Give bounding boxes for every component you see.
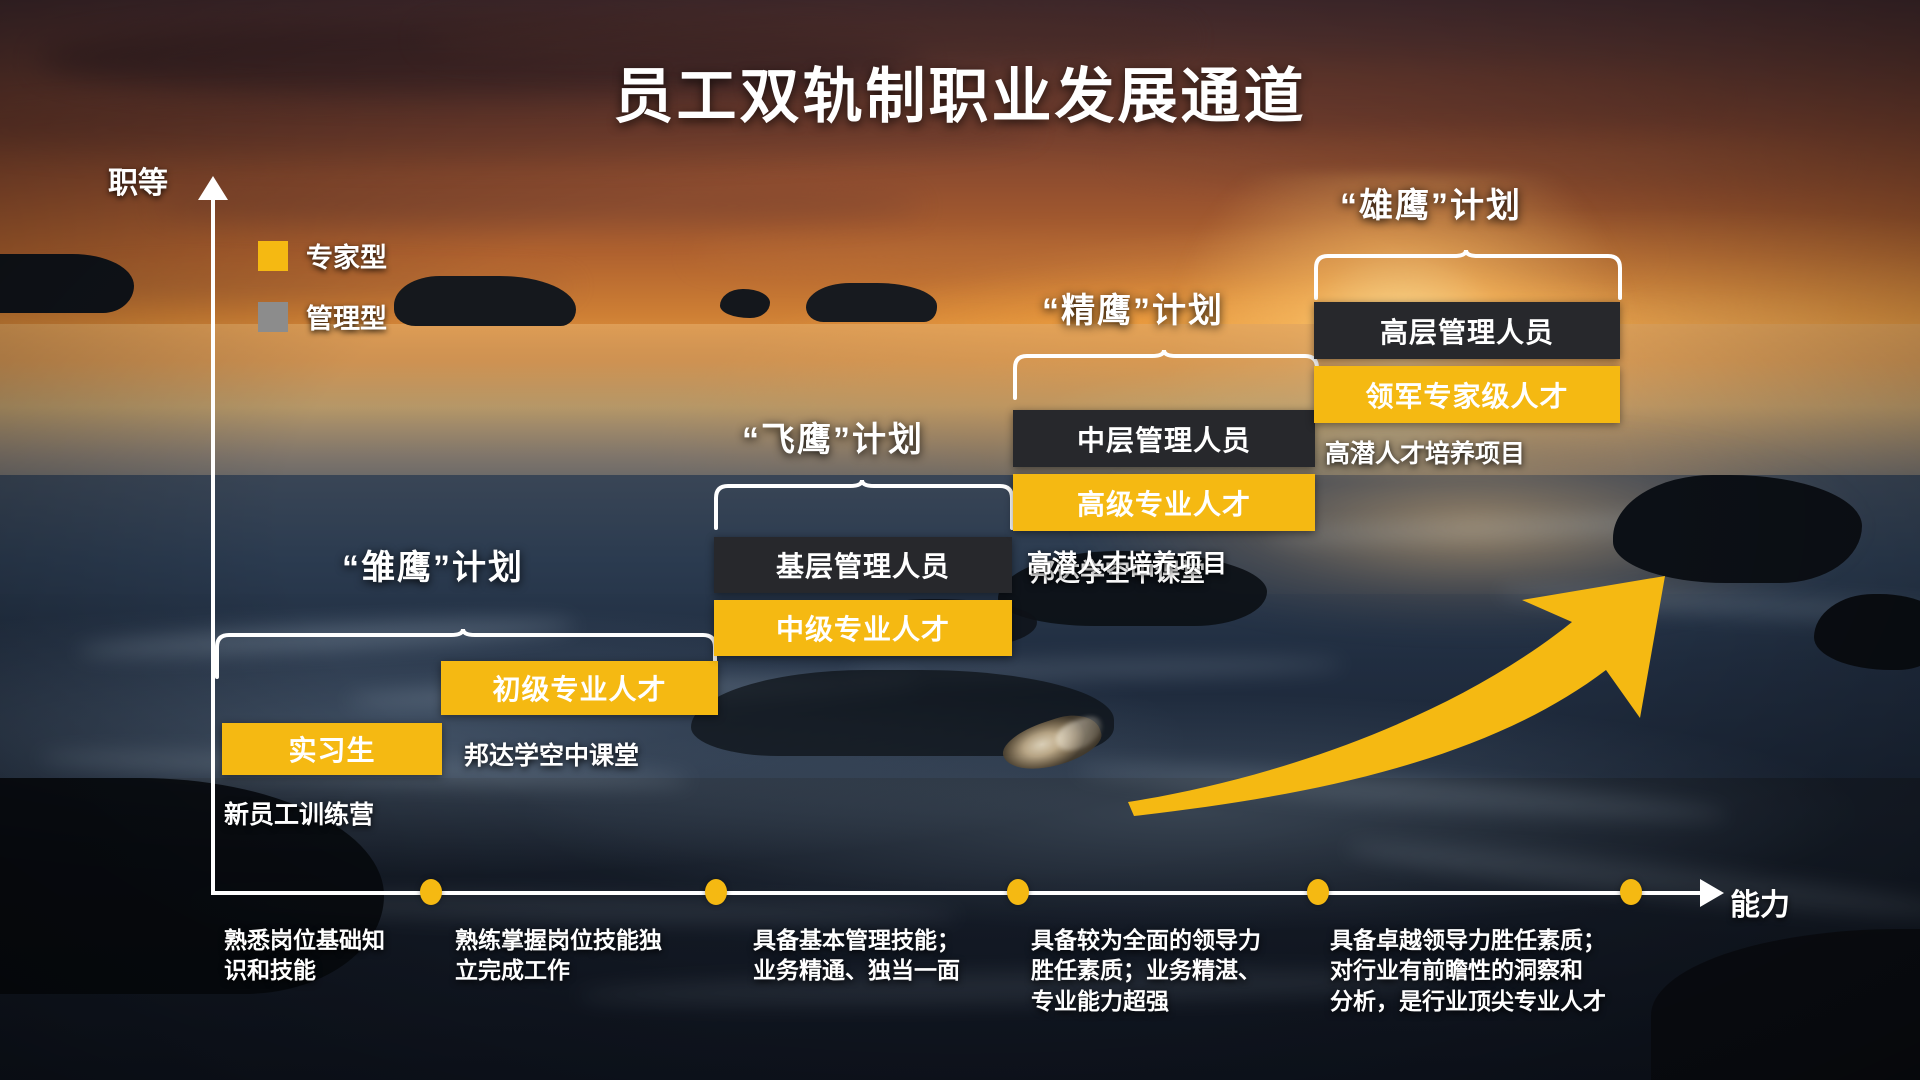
milestone-caption-2: 熟练掌握岗位技能独 立完成工作	[455, 925, 662, 986]
box-leading-expert: 领军专家级人才	[1314, 366, 1620, 423]
milestone-caption-1: 熟悉岗位基础知 识和技能	[224, 925, 385, 986]
box-mid-expert: 中级专业人才	[714, 600, 1012, 656]
box-junior-manager: 基层管理人员	[714, 537, 1012, 593]
plan-label-elite-eagle: “精鹰”计划	[1042, 283, 1224, 332]
brace-flying-eagle	[714, 478, 1014, 530]
brace-grand-eagle	[1314, 248, 1622, 300]
brace-elite-eagle	[1013, 348, 1319, 400]
program-high-potential-2: 高潜人才培养项目	[1325, 434, 1525, 470]
legend: 专家型 管理型	[258, 236, 387, 358]
box-intern: 实习生	[222, 723, 442, 775]
box-mid-manager: 中层管理人员	[1013, 410, 1315, 467]
box-senior-expert: 高级专业人才	[1013, 474, 1315, 531]
milestone-caption-5: 具备卓越领导力胜任素质； 对行业有前瞻性的洞察和 分析，是行业顶尖专业人才	[1330, 925, 1606, 1016]
program-newcomer-camp: 新员工训练营	[224, 795, 374, 831]
milestone-caption-3: 具备基本管理技能； 业务精通、独当一面	[753, 925, 960, 986]
legend-label-expert: 专家型	[306, 236, 387, 275]
slide-canvas: 员工双轨制职业发展通道 职等 能力 专家型 管理型 “雏鹰”计划 实习生	[0, 0, 1920, 1080]
y-axis-label: 职等	[108, 158, 168, 202]
y-axis-line	[211, 190, 215, 893]
page-title: 员工双轨制职业发展通道	[0, 48, 1920, 135]
x-axis-label: 能力	[1730, 880, 1790, 924]
x-axis-arrow-icon	[1700, 879, 1724, 907]
plan-label-eaglet: “雏鹰”计划	[342, 540, 524, 589]
expert-swatch-icon	[258, 241, 288, 271]
legend-item-expert: 专家型	[258, 236, 387, 275]
milestone-caption-4: 具备较为全面的领导力 胜任素质；业务精湛、 专业能力超强	[1031, 925, 1261, 1016]
legend-item-management: 管理型	[258, 297, 387, 336]
axis-tick-1	[420, 879, 442, 905]
axis-tick-4	[1307, 879, 1329, 905]
axis-tick-2	[705, 879, 727, 905]
plan-label-flying-eagle: “飞鹰”计划	[742, 412, 924, 461]
box-top-manager: 高层管理人员	[1314, 302, 1620, 359]
legend-label-management: 管理型	[306, 297, 387, 336]
management-swatch-icon	[258, 302, 288, 332]
growth-arrow-icon	[1120, 570, 1680, 825]
box-junior-expert: 初级专业人才	[441, 661, 718, 715]
axis-tick-3	[1007, 879, 1029, 905]
axis-tick-5	[1620, 879, 1642, 905]
y-axis-arrow-icon	[198, 176, 228, 200]
content-layer: 员工双轨制职业发展通道 职等 能力 专家型 管理型 “雏鹰”计划 实习生	[0, 0, 1920, 1080]
program-air-class-1: 邦达学空中课堂	[464, 736, 639, 772]
plan-label-grand-eagle: “雄鹰”计划	[1340, 178, 1522, 227]
